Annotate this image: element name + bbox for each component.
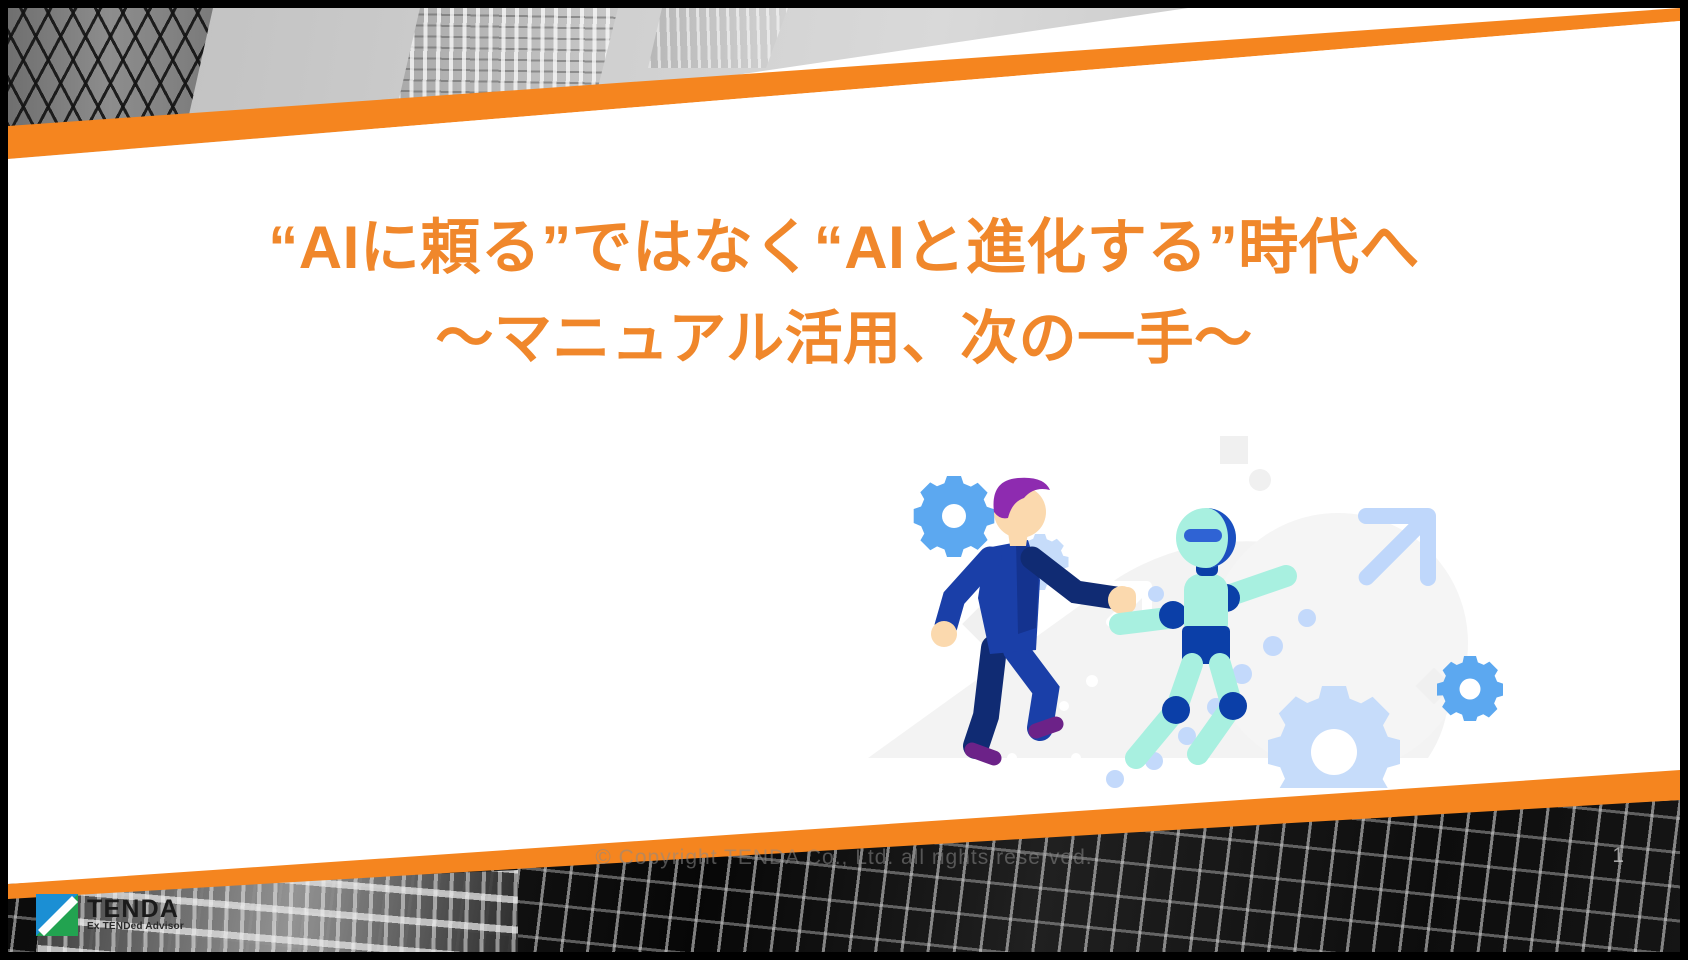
slide-canvas: “AIに頼る”ではなく“AIと進化する”時代へ 〜マニュアル活用、次の一手〜 — [8, 8, 1680, 952]
right-tower-image — [648, 8, 788, 68]
slide-number: 1 — [1612, 844, 1624, 868]
page-title: “AIに頼る”ではなく“AIと進化する”時代へ 〜マニュアル活用、次の一手〜 — [8, 204, 1680, 386]
decor-circle-grey-2 — [1249, 469, 1271, 491]
tenda-tagline: Ex TENDed Advisor — [87, 921, 184, 933]
human-front-shoe — [1036, 724, 1056, 731]
human-front-arm — [1032, 558, 1116, 598]
robot-left-knee-joint — [1162, 696, 1190, 724]
title-line-subtitle: 〜マニュアル活用、次の一手〜 — [8, 292, 1680, 386]
gear-icon-large-blue — [914, 476, 995, 557]
human-back-hand — [931, 621, 957, 647]
decor-square-grey-top — [1220, 436, 1248, 464]
title-line-primary: “AIに頼る”ではなく“AIと進化する”時代へ — [8, 204, 1680, 292]
robot-eye-visor — [1184, 529, 1222, 542]
human-back-leg — [976, 648, 994, 746]
tenda-logo-mark-icon — [36, 894, 78, 936]
human-neck — [1008, 532, 1028, 546]
robot-right-knee-joint — [1219, 692, 1247, 720]
hero-illustration — [868, 428, 1558, 788]
bottom-building-photo-band — [8, 752, 1680, 952]
tenda-logo-text: TENDA Ex TENDed Advisor — [87, 897, 184, 933]
tenda-logo: TENDA Ex TENDed Advisor — [36, 892, 206, 938]
tenda-wordmark: TENDA — [87, 897, 184, 921]
lattice-tower-image — [8, 8, 213, 128]
robot-left-shoulder-joint — [1159, 601, 1187, 629]
top-building-photo-band — [8, 8, 1680, 178]
